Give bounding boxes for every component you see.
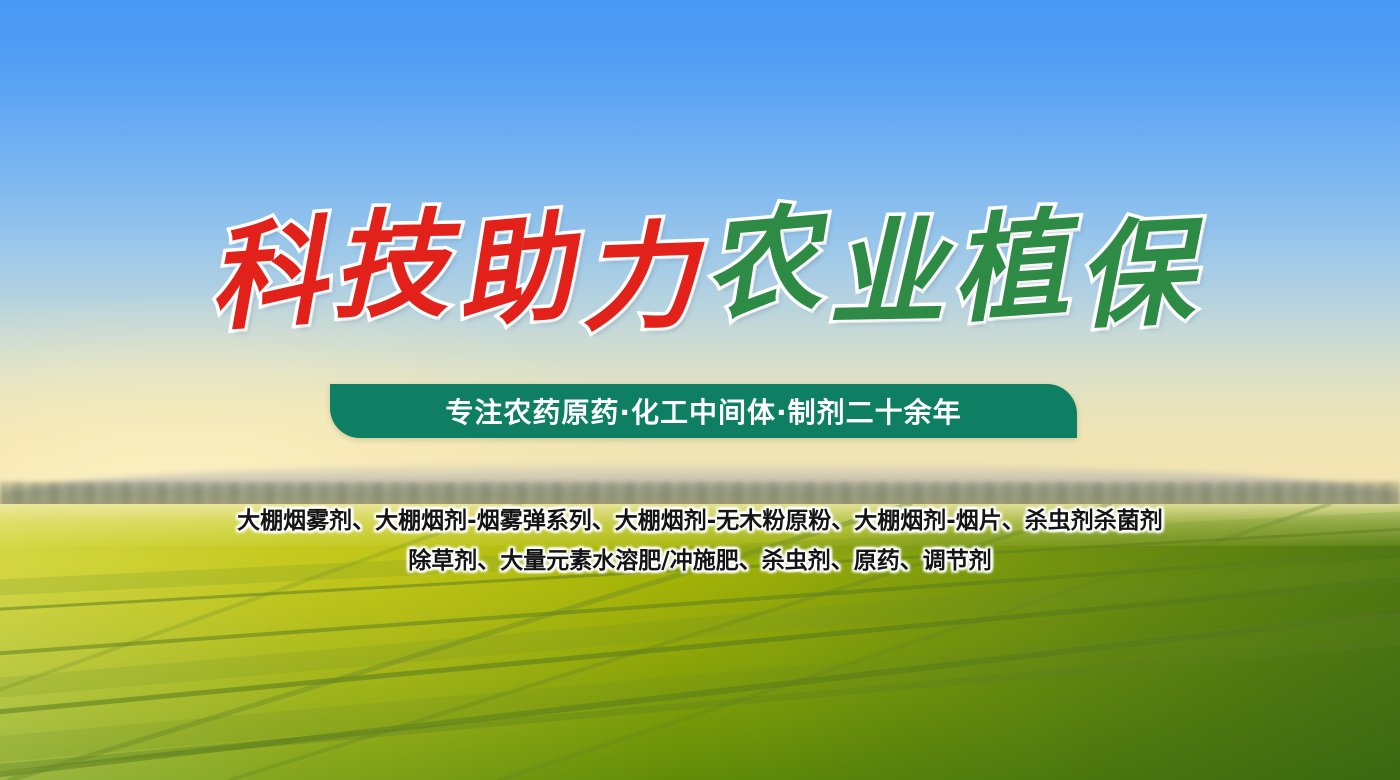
subtitle-text: 专注农药原药·化工中间体·制剂二十余年 (445, 391, 961, 431)
headline-char-5: 农 (699, 201, 825, 327)
headline-char-3: 助 (451, 209, 577, 335)
product-list: 大棚烟雾剂、大棚烟剂-烟雾弹系列、大棚烟剂-无木粉原粉、大棚烟剂-烟片、杀虫剂杀… (0, 501, 1400, 581)
subtitle-pill: 专注农药原药·化工中间体·制剂二十余年 (330, 384, 1077, 438)
headline-char-6: 业 (827, 215, 945, 333)
headline-char-7: 植 (948, 206, 1072, 330)
headline-char-2: 技 (331, 207, 449, 325)
headline-char-4: 力 (578, 218, 698, 338)
headline-char-1: 科 (205, 214, 329, 338)
headline: 科技助力农业植保 (0, 212, 1400, 328)
product-line-1: 大棚烟雾剂、大棚烟剂-烟雾弹系列、大棚烟剂-无木粉原粉、大棚烟剂-烟片、杀虫剂杀… (0, 501, 1400, 541)
hero-banner: 科技助力农业植保 专注农药原药·化工中间体·制剂二十余年 大棚烟雾剂、大棚烟剂-… (0, 0, 1400, 780)
headline-char-8: 保 (1073, 214, 1195, 336)
product-line-2: 除草剂、大量元素水溶肥/冲施肥、杀虫剂、原药、调节剂 (0, 541, 1400, 581)
